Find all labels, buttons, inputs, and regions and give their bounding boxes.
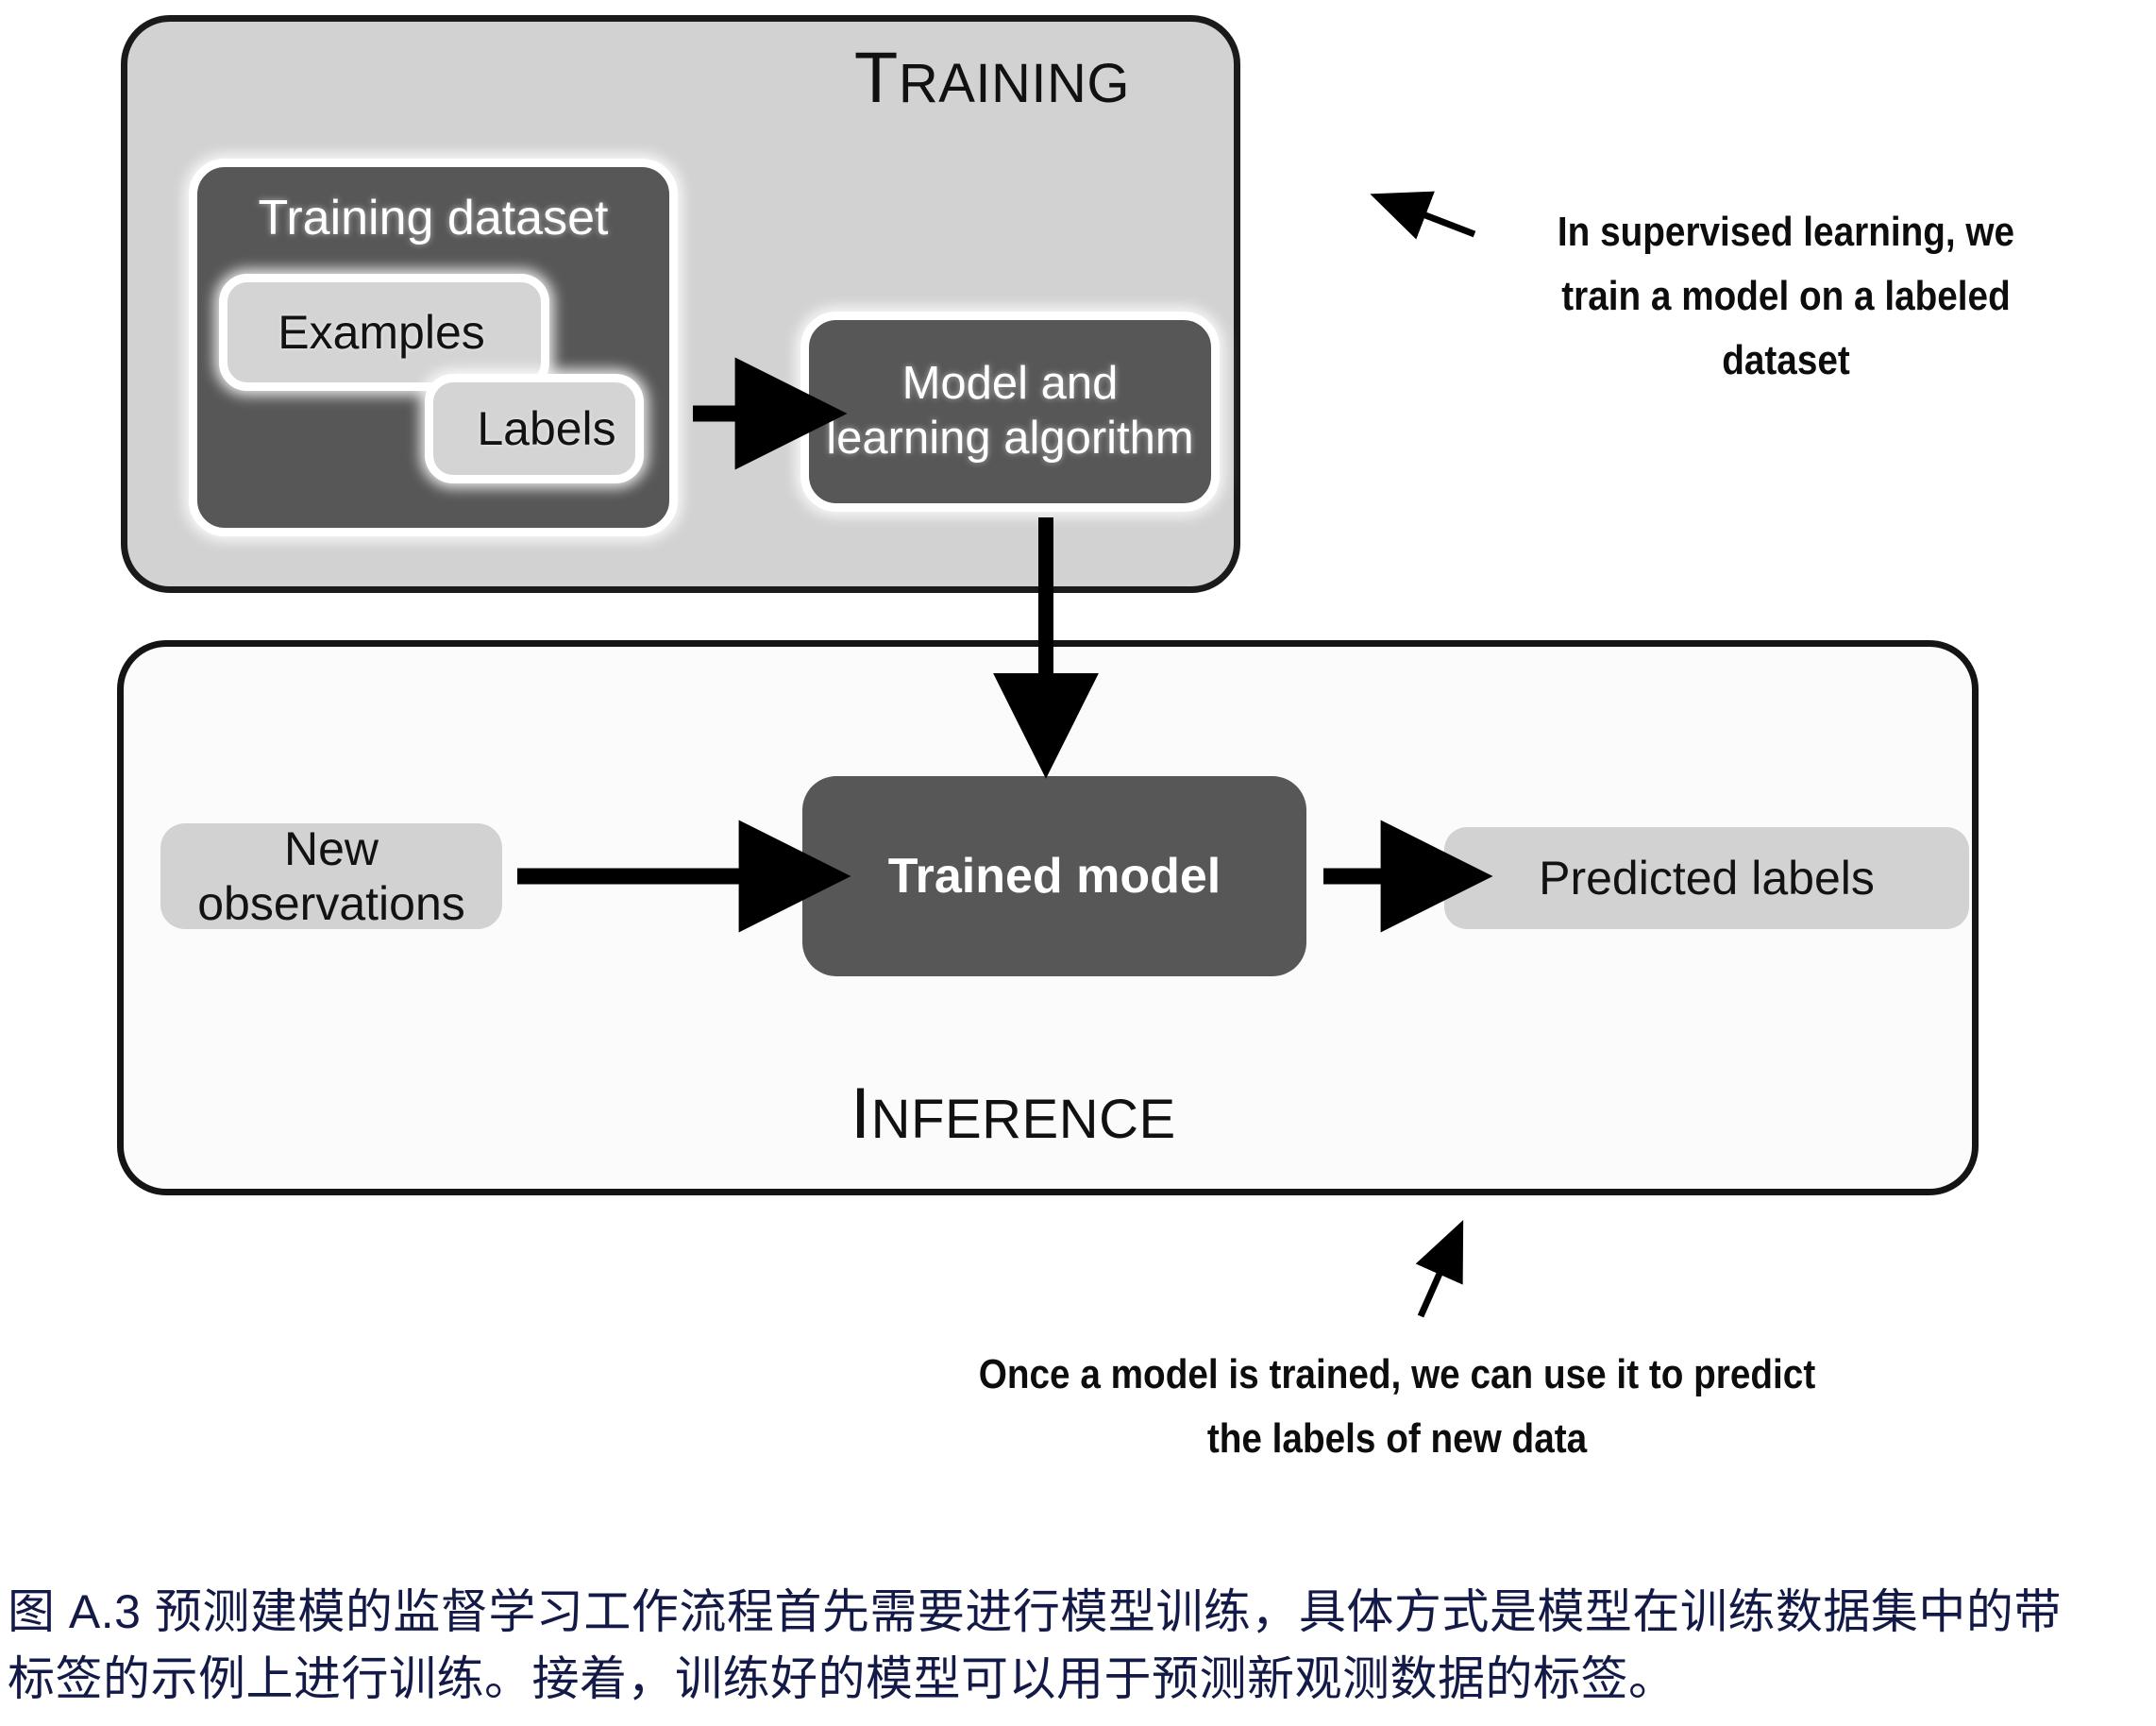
training-dataset-label: Training dataset (197, 190, 669, 246)
predicted-labels-box: Predicted labels (1444, 827, 1969, 929)
figure-caption: 图 A.3 预测建模的监督学习工作流程首先需要进行模型训练，具体方式是模型在训练… (8, 1579, 2141, 1713)
training-title-rest: RAINING (899, 53, 1130, 114)
model-box-text: Model and learning algorithm (809, 357, 1211, 466)
arrow-left-icon-top-callout (1401, 206, 1474, 234)
bottom-annotation-line-1: Once a model is trained, we can use it t… (916, 1343, 1879, 1407)
figure-caption-line-1: 图 A.3 预测建模的监督学习工作流程首先需要进行模型训练，具体方式是模型在训练… (8, 1579, 2141, 1646)
examples-label: Examples (227, 305, 541, 360)
inference-panel-title: INFERENCE (851, 1073, 1176, 1155)
trained-model-label: Trained model (802, 848, 1306, 905)
top-annotation-line-2: train a model on a labeled (1528, 264, 2044, 329)
top-annotation-line-1: In supervised learning, we (1528, 200, 2044, 264)
figure-canvas: TRAINING Training dataset Examples Label… (0, 0, 2156, 1726)
inference-title-rest: NFERENCE (871, 1089, 1176, 1150)
training-title-initial: T (854, 38, 899, 118)
new-observations-label: New observations (160, 821, 502, 931)
bottom-annotation-text: Once a model is trained, we can use it t… (916, 1343, 1879, 1471)
model-text-line-2: learning algorithm (809, 412, 1211, 466)
figure-caption-line-2: 标签的示例上进行训练。接着，训练好的模型可以用于预测新观测数据的标签。 (8, 1646, 2141, 1713)
arrow-up-icon-bottom-callout (1421, 1250, 1450, 1316)
labels-label: Labels (433, 401, 635, 456)
predicted-labels-label: Predicted labels (1444, 851, 1969, 905)
labels-box: Labels (425, 374, 644, 483)
top-annotation-text: In supervised learning, we train a model… (1528, 200, 2044, 394)
top-annotation-line-3: dataset (1528, 329, 2044, 393)
model-and-learning-algorithm-box: Model and learning algorithm (800, 312, 1220, 512)
bottom-annotation-line-2: the labels of new data (916, 1407, 1879, 1471)
new-observations-box: New observations (160, 823, 502, 929)
trained-model-box: Trained model (802, 776, 1306, 976)
inference-title-initial: I (851, 1074, 871, 1154)
model-text-line-1: Model and (809, 357, 1211, 412)
training-panel-title: TRAINING (854, 37, 1130, 119)
